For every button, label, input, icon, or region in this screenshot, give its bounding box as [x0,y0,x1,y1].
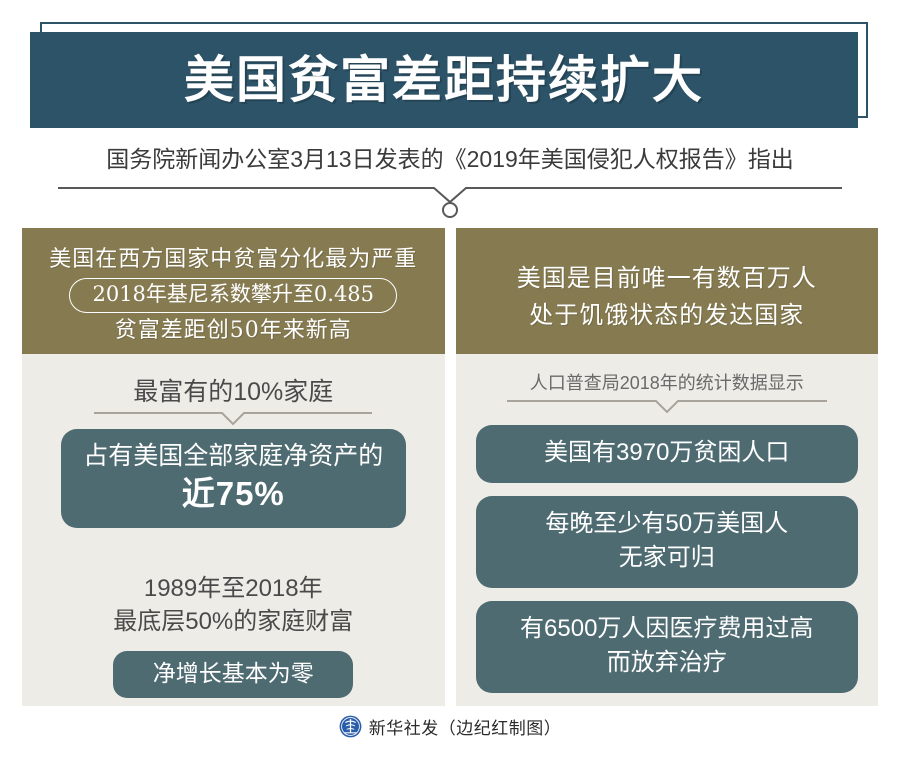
right-column: 美国是目前唯一有数百万人 处于饥饿状态的发达国家 人口普查局2018年的统计数据… [456,228,879,706]
left-zero-growth-bubble: 净增长基本为零 [113,651,353,698]
right-column-header: 美国是目前唯一有数百万人 处于饥饿状态的发达国家 [456,228,879,354]
left-column-header: 美国在西方国家中贫富分化最为严重 2018年基尼系数攀升至0.485 贫富差距创… [22,228,445,354]
right-card-2: 每晚至少有50万美国人 无家可归 [476,496,859,588]
right-card-1: 美国有3970万贫困人口 [476,425,859,483]
right-card-3: 有6500万人因医疗费用过高 而放弃治疗 [476,601,859,693]
right-cards-list: 美国有3970万贫困人口 每晚至少有50万美国人 无家可归 有6500万人因医疗… [476,425,859,693]
left-bubble-line2: 近75% [79,473,388,515]
right-caption: 人口普查局2018年的统计数据显示 [530,370,804,396]
right-card-2-line2: 无家可归 [490,541,845,575]
title-banner: 美国贫富差距持续扩大 [0,0,900,140]
left-bubble-line1: 占有美国全部家庭净资产的 [79,439,388,473]
left-column-body: 最富有的10%家庭 占有美国全部家庭净资产的 近75% 1989年至2018年 … [22,354,445,708]
left-column: 美国在西方国家中贫富分化最为严重 2018年基尼系数攀升至0.485 贫富差距创… [22,228,445,706]
left-connector-icon [94,411,372,427]
left-caption: 最富有的10%家庭 [133,376,333,408]
right-card-3-line1: 有6500万人因医疗费用过高 [490,612,845,646]
left-main-bubble: 占有美国全部家庭净资产的 近75% [61,429,406,528]
left-header-line2: 贫富差距创50年来新高 [32,314,435,347]
infographic-page: 美国贫富差距持续扩大 国务院新闻办公室3月13日发表的《2019年美国侵犯人权报… [0,0,900,758]
right-header-line1: 美国是目前唯一有数百万人 [466,260,869,297]
left-stats-line2: 最底层50%的家庭财富 [113,605,353,638]
footer-credit: 新华社发（边纪红制图） [369,714,562,739]
page-title: 美国贫富差距持续扩大 [184,55,704,105]
subtitle-connector-icon [58,186,842,220]
subtitle-text: 国务院新闻办公室3月13日发表的《2019年美国侵犯人权报告》指出 [0,142,900,176]
left-header-line1: 美国在西方国家中贫富分化最为严重 [32,243,435,276]
left-header-pill: 2018年基尼系数攀升至0.485 [69,278,397,313]
right-connector-icon [507,399,827,415]
right-card-1-line1: 美国有3970万贫困人口 [490,436,845,470]
right-card-2-line1: 每晚至少有50万美国人 [490,507,845,541]
footer: 新华社发（边纪红制图） [0,714,900,739]
right-column-body: 人口普查局2018年的统计数据显示 美国有3970万贫困人口 每晚至少有50万美… [456,354,879,706]
columns-container: 美国在西方国家中贫富分化最为严重 2018年基尼系数攀升至0.485 贫富差距创… [22,228,878,706]
left-stats-block: 1989年至2018年 最底层50%的家庭财富 净增长基本为零 [113,572,353,698]
xinhua-logo-icon [339,715,362,738]
title-bar: 美国贫富差距持续扩大 [30,32,858,128]
subtitle-block: 国务院新闻办公室3月13日发表的《2019年美国侵犯人权报告》指出 [0,142,900,176]
right-header-line2: 处于饥饿状态的发达国家 [466,297,869,334]
right-card-3-line2: 而放弃治疗 [490,646,845,680]
left-stats-line1: 1989年至2018年 [113,572,353,605]
